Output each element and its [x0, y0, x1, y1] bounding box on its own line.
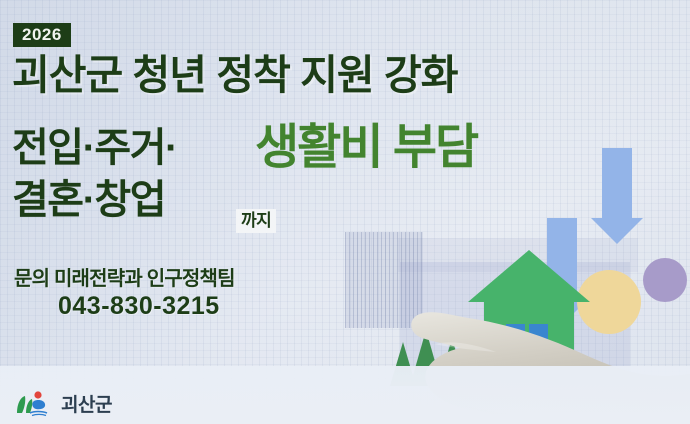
contact-department: 문의 미래전략과 인구정책팀: [14, 262, 235, 291]
year-badge: 2026: [13, 23, 71, 47]
logo: 괴산군: [14, 389, 112, 417]
subheadline-line-1: 전입·주거·: [12, 122, 177, 174]
logo-label: 괴산군: [61, 390, 112, 417]
subheadline-highlight: 생활비 부담: [255, 124, 477, 172]
promo-banner: 2026 괴산군 청년 정착 지원 강화 전입·주거· 결혼·창업 생활비 부담…: [0, 0, 690, 424]
gwesan-emblem-icon: [14, 389, 52, 417]
subheadline-block: 전입·주거· 결혼·창업: [12, 122, 177, 226]
subheadline-line-2: 결혼·창업: [12, 174, 177, 226]
page-title: 괴산군 청년 정착 지원 강화: [12, 55, 457, 96]
suffix-tag: 까지: [236, 209, 276, 233]
contact-phone: 043-830-3215: [58, 292, 220, 321]
